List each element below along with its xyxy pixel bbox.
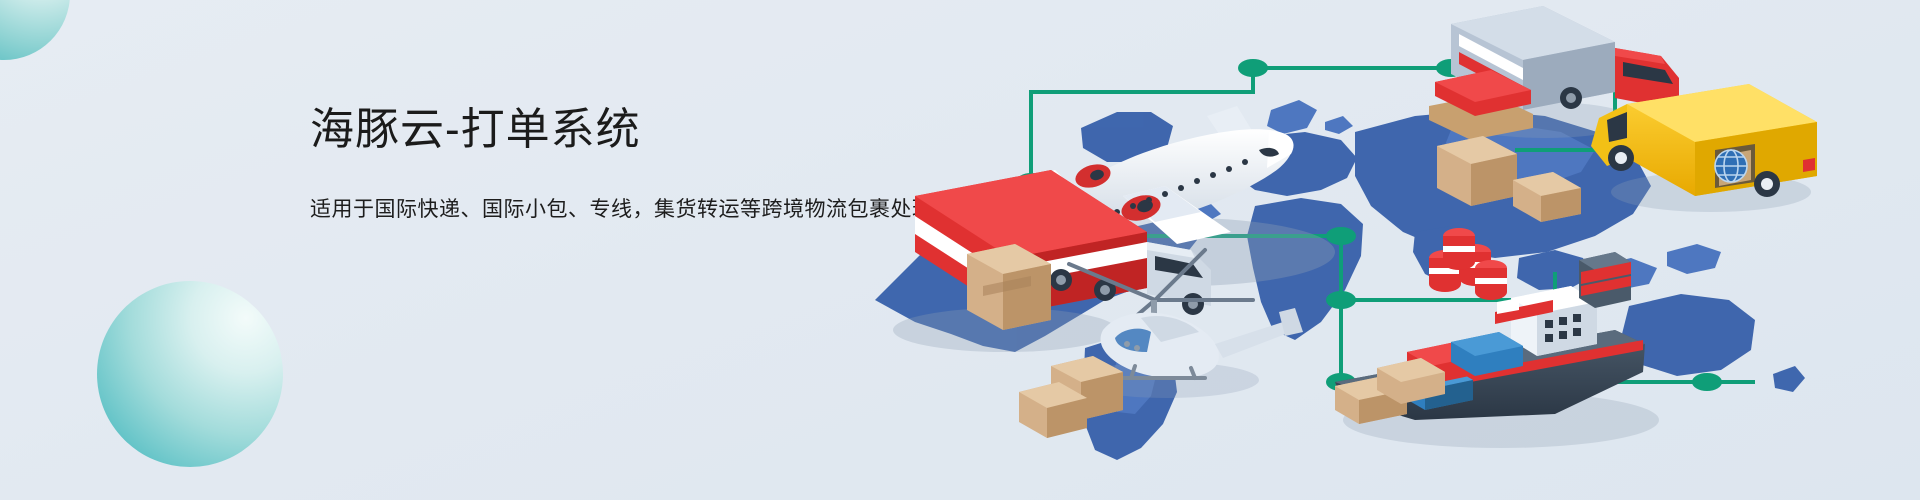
decorative-circle-bottom-left [97,281,283,467]
logistics-illustration [855,0,1920,500]
page-title: 海豚云-打单系统 [310,104,934,157]
banner-copy: 海豚云-打单系统 适用于国际快递、国际小包、专线，集货转运等跨境物流包裹处理 [310,104,934,224]
delivery-van-icon [1591,84,1817,212]
decorative-circle-top-left [0,0,70,60]
page-subtitle: 适用于国际快递、国际小包、专线，集货转运等跨境物流包裹处理 [310,195,934,224]
hero-banner: 海豚云-打单系统 适用于国际快递、国际小包、专线，集货转运等跨境物流包裹处理 [0,0,1920,500]
